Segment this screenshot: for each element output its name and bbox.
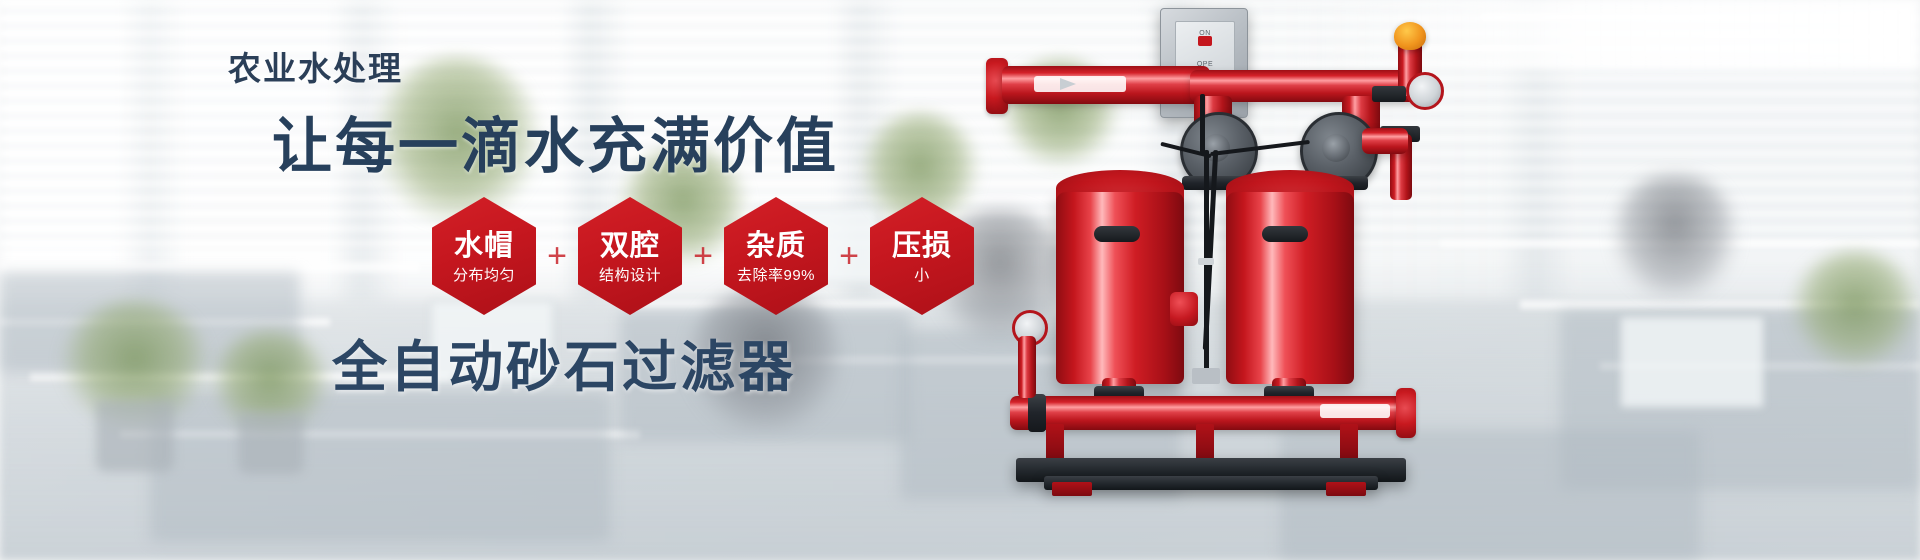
feature-title: 双腔 [599,232,661,261]
tank-access-clamp-left [1094,226,1140,242]
base-foot-pad [1052,482,1092,496]
plus-separator-icon: + [828,239,870,273]
flow-arrow-icon [1060,78,1076,90]
air-release-valve-icon [1394,22,1426,50]
filter-tank-right [1226,192,1354,384]
flow-direction-label [1034,76,1126,92]
pipe-clamp [1372,86,1406,102]
feature-subtitle: 分布均匀 [453,268,515,283]
plus-separator-icon: + [682,239,724,273]
filter-tank-left [1056,192,1184,384]
ceiling-light-bar [1700,34,1910,39]
manifold-joint-left [1028,394,1046,432]
feature-title: 杂质 [737,232,815,261]
valve-side-stub [1362,128,1408,154]
cable-bracket [1192,368,1220,384]
cable-tie [1198,258,1214,265]
product-name-heading: 全自动砂石过滤器 [332,322,796,402]
valve-hub-right [1322,134,1350,162]
monitor [1620,316,1764,408]
page-title: 让每一滴水充满价值 [272,98,839,185]
outlet-flange-right [1396,388,1416,438]
hero-banner: 农业水处理 让每一滴水充满价值 全自动砂石过滤器 水帽 分布均匀 + 双腔 结构… [0,0,1920,560]
control-cable-to-controller [1200,94,1205,154]
pressure-gauge [1406,72,1444,110]
feature-badge-text: 水帽 分布均匀 [453,229,515,283]
tank-side-port-left [1170,292,1198,326]
feature-badge-dual-chamber: 双腔 结构设计 [578,197,682,315]
manifold-spec-label [1320,404,1390,418]
feature-badge-water-cap: 水帽 分布均匀 [432,197,536,315]
feature-title: 水帽 [453,232,515,261]
plus-separator-icon: + [536,239,578,273]
feature-subtitle: 小 [892,268,952,283]
feature-title: 压损 [892,232,952,261]
feature-subtitle: 结构设计 [599,268,661,283]
office-person [1615,176,1735,296]
potted-plant [1790,250,1920,370]
feature-badge-impurity: 杂质 去除率99% [724,197,828,315]
base-foot-pad [1326,482,1366,496]
gauge-riser-pipe [1018,336,1036,398]
eyebrow-text: 农业水处理 [228,42,403,90]
tank-access-clamp-right [1262,226,1308,242]
product-image-sand-filter: ON OPE BAOCHUAN [1010,0,1570,560]
feature-badge-text: 压损 小 [892,229,952,283]
feature-badge-pressure-loss: 压损 小 [870,197,974,315]
feature-badge-text: 杂质 去除率99% [737,229,815,283]
controller-indicator-led [1198,36,1212,46]
feature-badge-text: 双腔 结构设计 [599,229,661,283]
feature-badge-list: 水帽 分布均匀 + 双腔 结构设计 + 杂质 去除率99% [432,196,974,316]
feature-subtitle: 去除率99% [737,268,815,283]
copy-block: 农业水处理 让每一滴水充满价值 全自动砂石过滤器 水帽 分布均匀 + 双腔 结构… [0,0,1060,560]
